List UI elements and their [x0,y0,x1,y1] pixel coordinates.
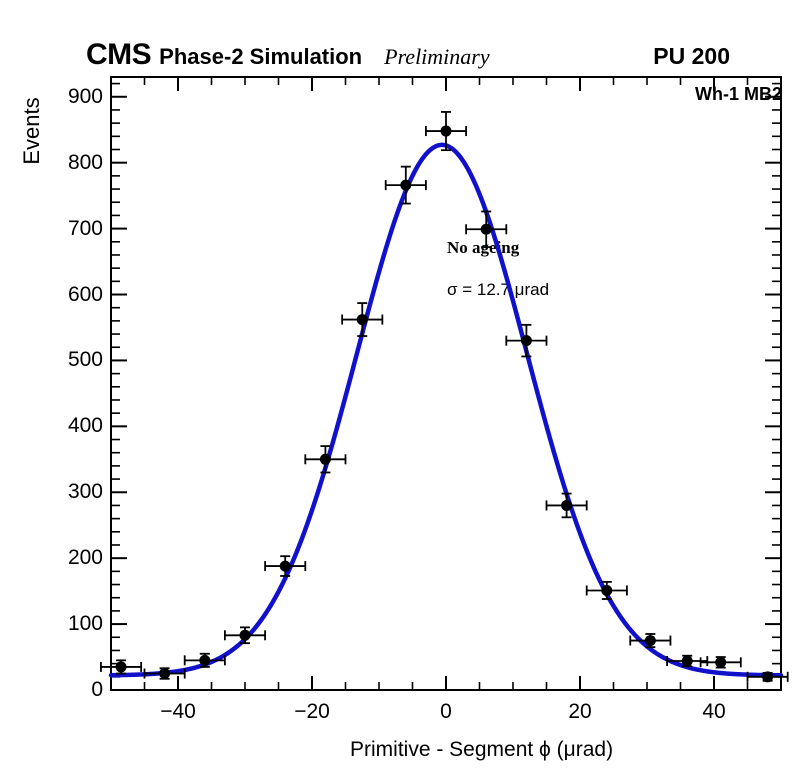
x-tick-label: −40 [160,700,196,724]
data-point [199,655,210,666]
x-tick-label: −20 [294,700,330,724]
data-point [645,635,656,646]
x-tick-label: 20 [568,700,591,724]
y-tick-label: 400 [15,414,103,438]
data-point [601,585,612,596]
axis-frame [111,77,781,690]
data-point [116,661,127,672]
data-point [441,126,452,137]
y-tick-label: 200 [15,546,103,570]
data-point [481,224,492,235]
data-point [280,561,291,572]
y-tick-label: 800 [15,151,103,175]
data-point [521,335,532,346]
x-tick-label: 0 [440,700,452,724]
chart-graphic [0,0,796,772]
data-point [682,655,693,666]
y-tick-label: 700 [15,217,103,241]
y-tick-label: 300 [15,480,103,504]
data-point [320,454,331,465]
data-point [357,314,368,325]
plot-canvas: CMS Phase-2 Simulation Preliminary PU 20… [0,0,796,772]
data-markers [116,126,774,683]
data-point [561,500,572,511]
data-point [715,657,726,668]
data-point [159,668,170,679]
y-tick-label: 900 [15,85,103,109]
y-tick-label: 500 [15,348,103,372]
data-point [240,630,251,641]
data-point [762,671,773,682]
x-tick-label: 40 [702,700,725,724]
error-bars [101,112,788,682]
data-point [400,180,411,191]
gaussian-fit-curve [111,145,781,675]
y-tick-label: 0 [15,678,103,702]
y-tick-label: 100 [15,612,103,636]
axis-ticks [111,77,781,690]
y-tick-label: 600 [15,283,103,307]
